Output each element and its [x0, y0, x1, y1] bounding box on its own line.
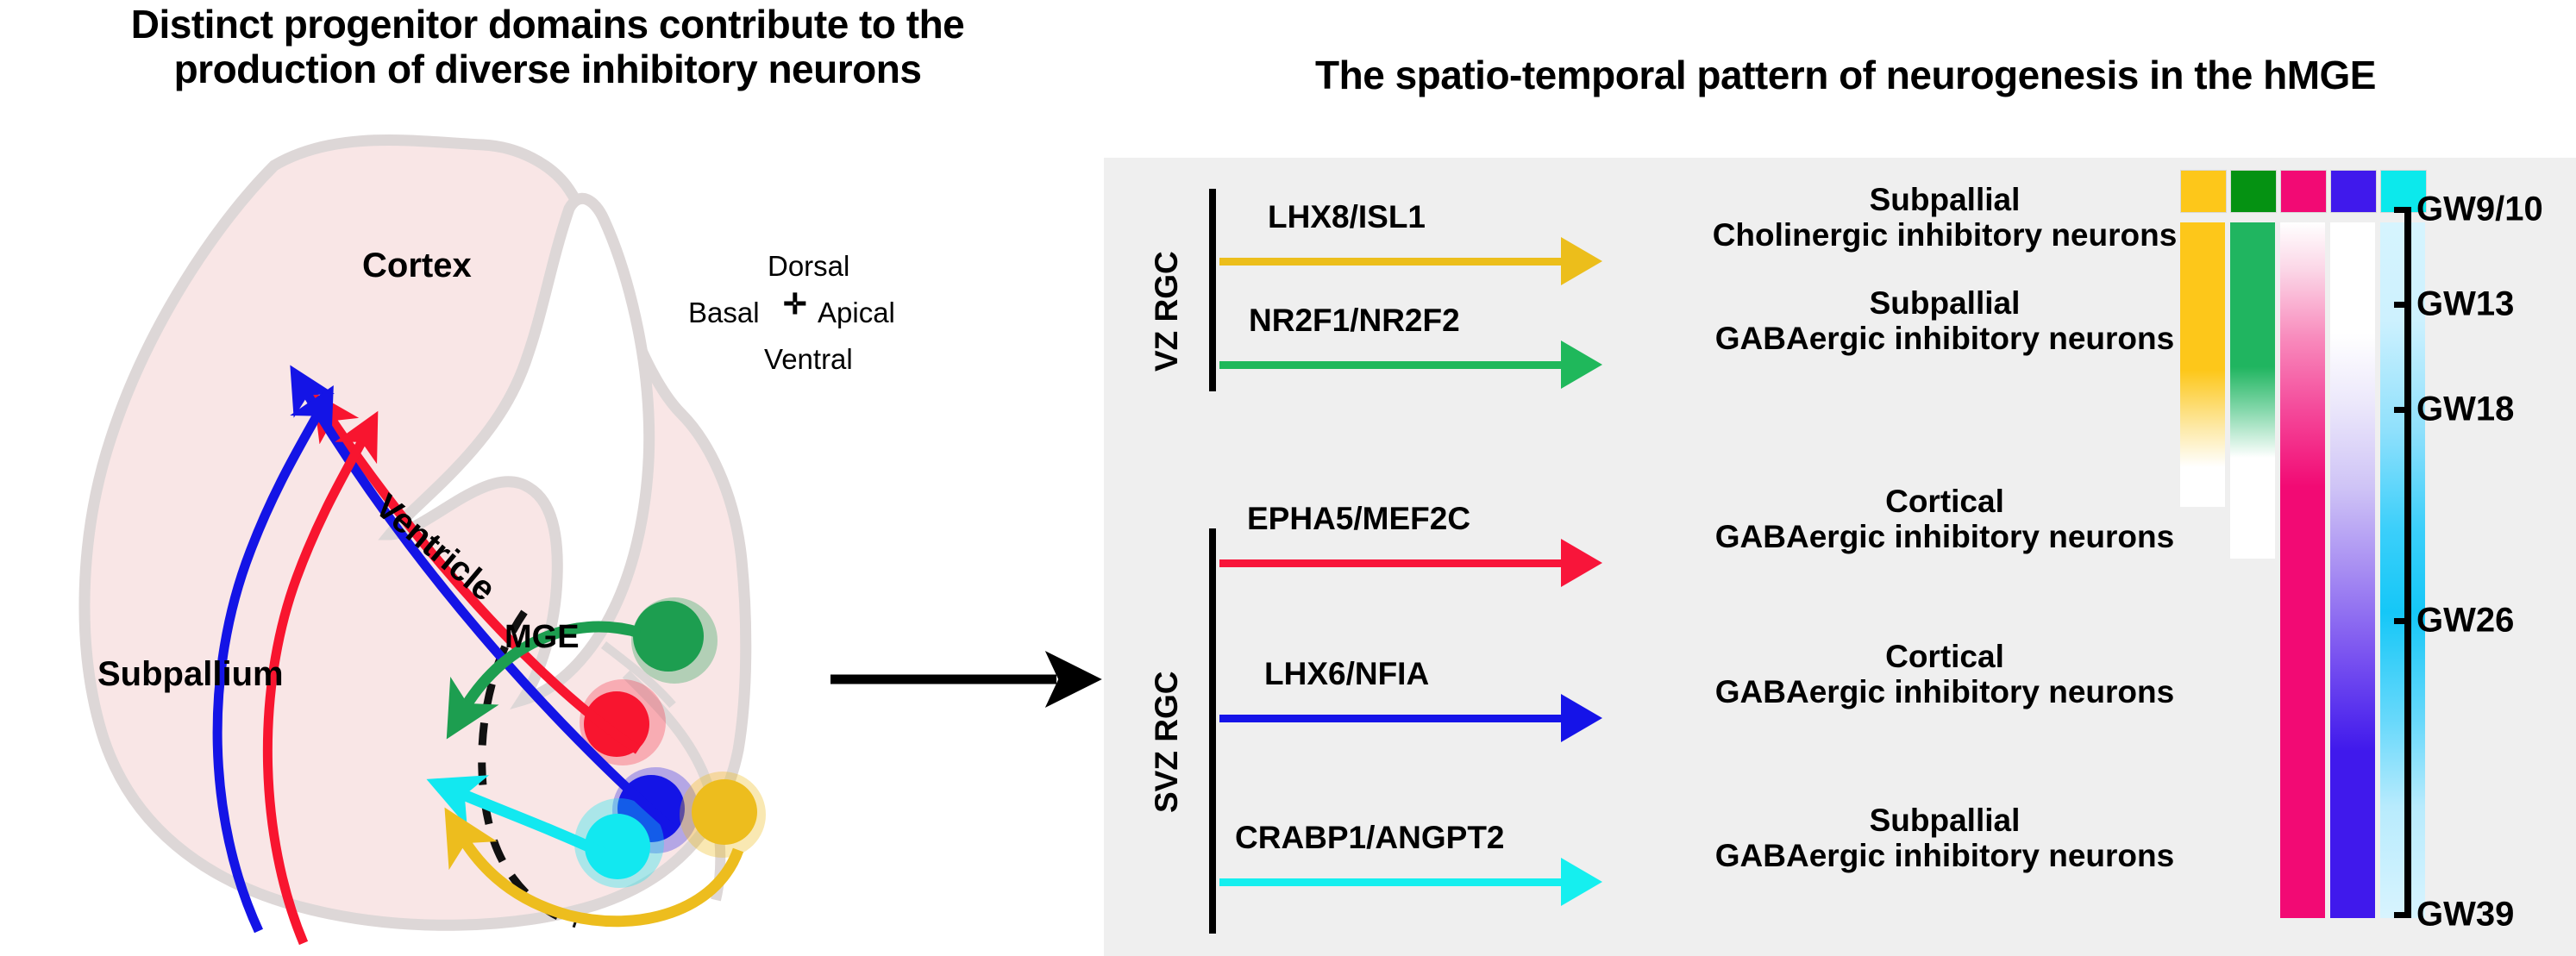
- compass-dorsal-label: Dorsal: [768, 250, 849, 283]
- arrow-head-green: [1561, 341, 1602, 389]
- gene-label-lhx8-isl1: LHX8/ISL1: [1268, 199, 1426, 235]
- orientation-compass: Dorsal Basal Apical Ventral ✛: [688, 250, 895, 388]
- brain-svg: [0, 129, 1104, 956]
- arrow-head-yellow: [1561, 237, 1602, 285]
- tick-gw39: [2394, 912, 2411, 918]
- fate-line-1: Subpallial: [1621, 182, 2268, 217]
- compass-apical-label: Apical: [818, 297, 895, 329]
- label-mge: MGE: [505, 619, 580, 656]
- timeline-axis: [2404, 209, 2411, 918]
- bar-lhx8-isl1: [2180, 222, 2225, 507]
- tick-gw13: [2394, 302, 2411, 308]
- tick-label-gw39: GW39: [2416, 896, 2514, 934]
- fate-label-crabp1-angpt2: Subpallial GABAergic inhibitory neurons: [1621, 803, 2268, 874]
- tick-label-gw9-10: GW9/10: [2416, 191, 2543, 229]
- compass-basal-label: Basal: [688, 297, 760, 329]
- arrow-shaft-yellow: [1219, 258, 1561, 266]
- right-panel: VZ RGC SVZ RGC LHX8/ISL1 Subpallial Chol…: [1104, 158, 2576, 956]
- domain-dot-yellow: [680, 772, 766, 858]
- group-label-svz-rgc: SVZ RGC: [1149, 672, 1185, 813]
- right-panel-title: The spatio-temporal pattern of neurogene…: [1138, 52, 2553, 98]
- fate-label-lhx8-isl1: Subpallial Cholinergic inhibitory neuron…: [1621, 182, 2268, 253]
- gene-label-nr2f1-nr2f2: NR2F1/NR2F2: [1249, 303, 1460, 339]
- fate-line-2: GABAergic inhibitory neurons: [1621, 321, 2268, 356]
- fate-line-2: GABAergic inhibitory neurons: [1621, 519, 2268, 554]
- key-swatch-lhx6-nfia: [2330, 170, 2377, 213]
- fate-line-1: Cortical: [1621, 639, 2268, 674]
- bar-nr2f1-nr2f2: [2230, 222, 2275, 559]
- gene-label-lhx6-nfia: LHX6/NFIA: [1264, 656, 1429, 692]
- bar-lhx6-nfia: [2330, 222, 2375, 918]
- fate-label-epha5-mef2c: Cortical GABAergic inhibitory neurons: [1621, 484, 2268, 555]
- arrow-head-blue: [1561, 694, 1602, 742]
- arrow-shaft-cyan: [1219, 878, 1561, 886]
- fate-line-1: Subpallial: [1621, 803, 2268, 838]
- fate-line-2: GABAergic inhibitory neurons: [1621, 838, 2268, 873]
- key-swatch-nr2f1-nr2f2: [2230, 170, 2277, 213]
- key-swatch-epha5-mef2c: [2280, 170, 2327, 213]
- bracket-svz-rgc: [1209, 528, 1216, 934]
- left-title-line-1: Distinct progenitor domains contribute t…: [0, 2, 1095, 47]
- left-panel-title: Distinct progenitor domains contribute t…: [0, 2, 1095, 92]
- label-cortex: Cortex: [362, 247, 472, 285]
- brain-schematic: [0, 129, 1104, 956]
- bar-crabp1-angpt2: [2380, 222, 2425, 918]
- fate-label-lhx6-nfia: Cortical GABAergic inhibitory neurons: [1621, 639, 2268, 710]
- fate-label-nr2f1-nr2f2: Subpallial GABAergic inhibitory neurons: [1621, 285, 2268, 357]
- arrow-shaft-blue: [1219, 715, 1561, 722]
- arrow-shaft-red: [1219, 559, 1561, 567]
- domain-dot-green: [631, 597, 718, 684]
- bar-epha5-mef2c: [2280, 222, 2325, 918]
- tick-label-gw13: GW13: [2416, 285, 2514, 324]
- fate-line-1: Cortical: [1621, 484, 2268, 519]
- gene-label-epha5-mef2c: EPHA5/MEF2C: [1247, 501, 1470, 537]
- label-subpallium: Subpallium: [97, 655, 284, 694]
- key-swatch-lhx8-isl1: [2180, 170, 2227, 213]
- tick-label-gw26: GW26: [2416, 602, 2514, 640]
- compass-plus-icon: ✛: [783, 290, 807, 318]
- left-title-line-2: production of diverse inhibitory neurons: [0, 47, 1095, 91]
- bracket-vz-rgc: [1209, 189, 1216, 391]
- tick-gw18: [2394, 407, 2411, 413]
- group-label-vz-rgc: VZ RGC: [1149, 251, 1185, 372]
- compass-ventral-label: Ventral: [764, 343, 853, 376]
- neurogenesis-timeline-chart: GW9/10 GW13 GW18 GW26 GW39: [2173, 158, 2432, 956]
- tick-label-gw18: GW18: [2416, 391, 2514, 429]
- fate-line-2: GABAergic inhibitory neurons: [1621, 674, 2268, 709]
- panel-connector-arrow: [824, 634, 1117, 737]
- arrow-shaft-green: [1219, 361, 1561, 369]
- arrow-head-cyan: [1561, 858, 1602, 906]
- gene-label-crabp1-angpt2: CRABP1/ANGPT2: [1235, 820, 1505, 856]
- fate-line-2: Cholinergic inhibitory neurons: [1621, 217, 2268, 253]
- tick-gw26: [2394, 618, 2411, 624]
- fate-line-1: Subpallial: [1621, 285, 2268, 321]
- arrow-head-red: [1561, 539, 1602, 587]
- tick-gw9-10: [2394, 207, 2411, 213]
